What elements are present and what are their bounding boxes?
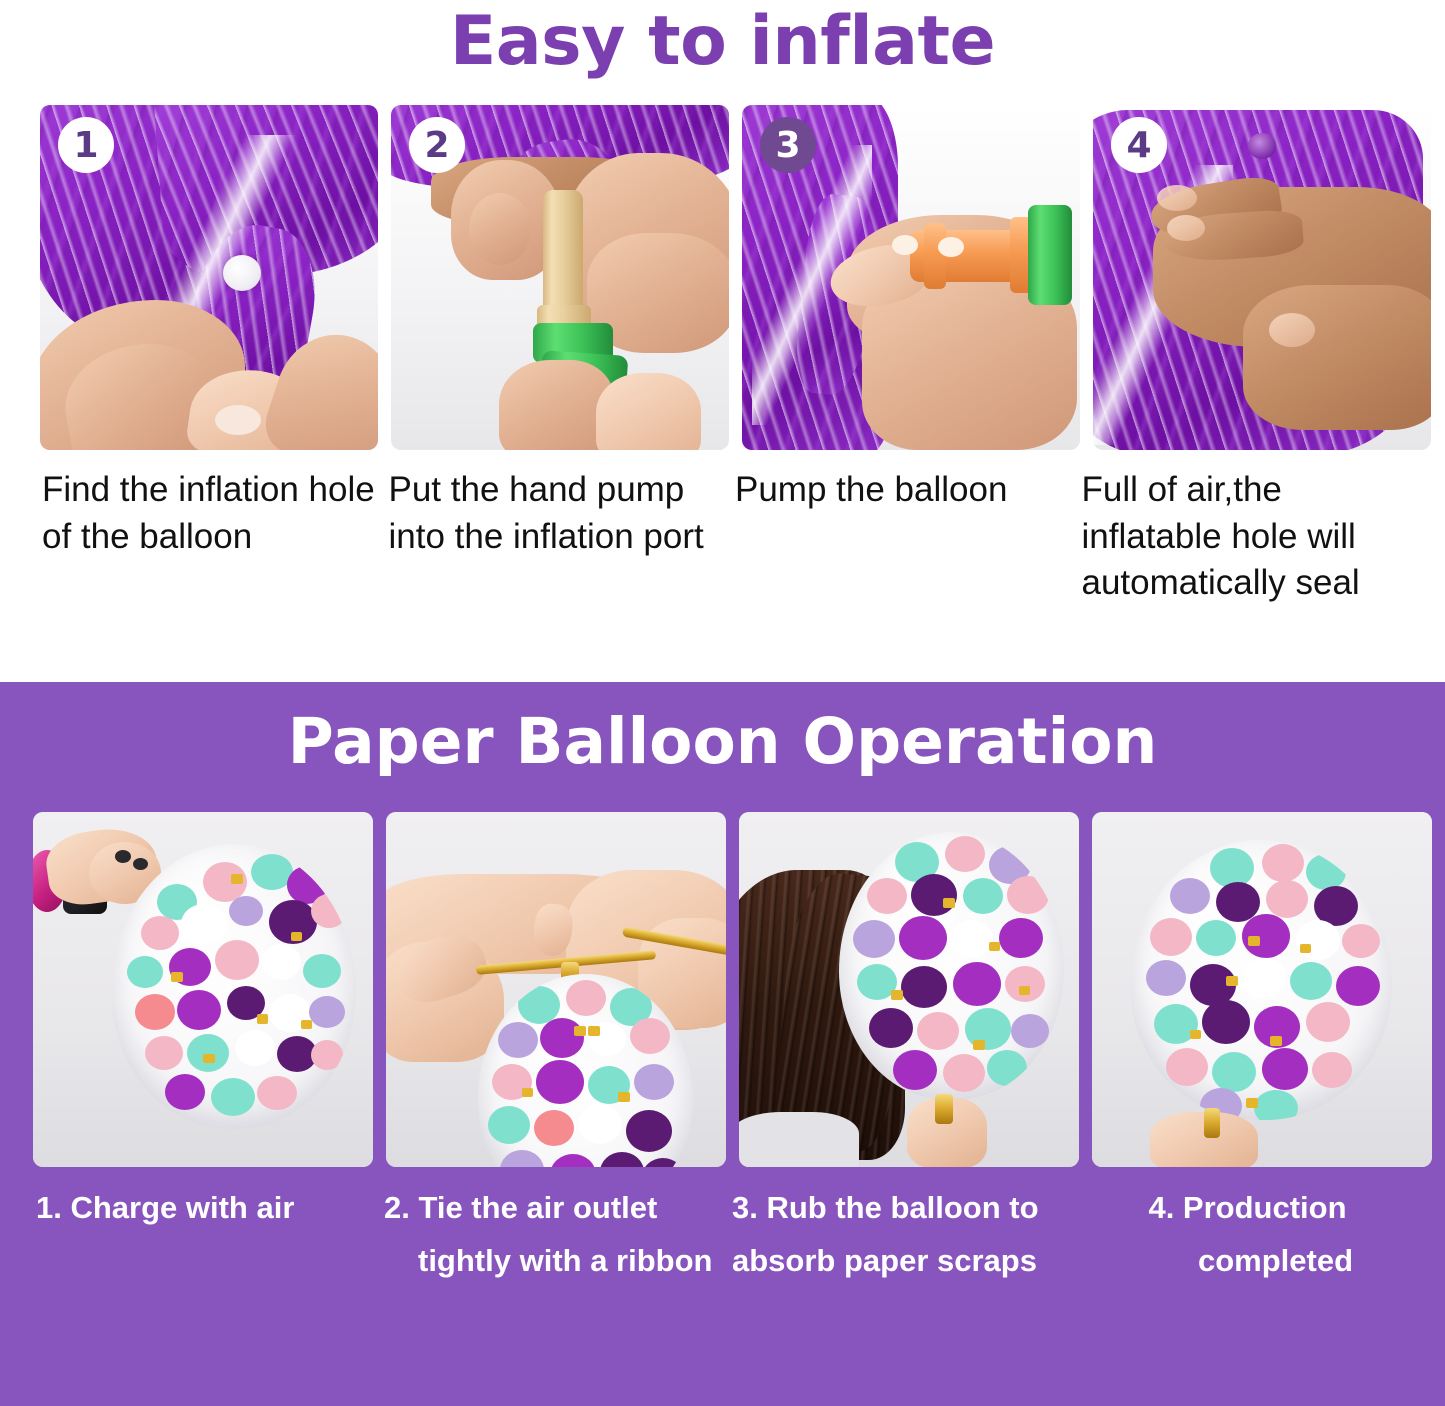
photo-b3-artwork <box>739 812 1079 1167</box>
operation-caption-1-line1: 1. Charge with air <box>36 1190 294 1225</box>
operation-caption-2-line1: 2. Tie the air outlet <box>384 1190 657 1225</box>
step-badge-2: 2 <box>409 117 465 173</box>
operation-photo-4 <box>1092 812 1432 1167</box>
bottom-section-heading: Paper Balloon Operation <box>0 682 1445 800</box>
operation-caption-4-line1: 4. Production <box>1148 1190 1346 1225</box>
step-caption-2: Put the hand pump into the inflation por… <box>389 467 723 607</box>
photo-b4-artwork <box>1092 812 1432 1167</box>
step-caption-1: Find the inflation hole of the balloon <box>42 467 376 607</box>
photo-b1-artwork <box>33 812 373 1167</box>
operation-caption-1: 1. Charge with air <box>36 1181 371 1288</box>
operation-photo-2 <box>386 812 726 1167</box>
easy-to-inflate-section: Easy to inflate 1 <box>0 0 1445 682</box>
step-photo-3: 3 <box>742 105 1080 450</box>
operation-caption-4-line2: completed <box>1080 1234 1415 1287</box>
top-section-heading: Easy to inflate <box>0 0 1445 100</box>
top-caption-row: Find the inflation hole of the balloon P… <box>0 445 1445 607</box>
step-badge-1: 1 <box>58 117 114 173</box>
operation-photo-1 <box>33 812 373 1167</box>
operation-caption-3: 3. Rub the balloon to absorb paper scrap… <box>732 1181 1067 1288</box>
step-photo-4: 4 <box>1093 105 1431 450</box>
bottom-caption-row: 1. Charge with air 2. Tie the air outlet… <box>0 1155 1445 1288</box>
operation-caption-4: 4. Production completed <box>1080 1181 1415 1288</box>
photo-b2-artwork <box>386 812 726 1167</box>
operation-caption-3-line2: absorb paper scraps <box>732 1234 1067 1287</box>
operation-caption-2-line2: tightly with a ribbon <box>384 1234 719 1287</box>
operation-caption-2: 2. Tie the air outlet tightly with a rib… <box>384 1181 719 1288</box>
step-caption-4: Full of air,the inflatable hole will aut… <box>1082 467 1416 607</box>
step-badge-4: 4 <box>1111 117 1167 173</box>
operation-photo-3 <box>739 812 1079 1167</box>
step-photo-2: 2 <box>391 105 729 450</box>
step-caption-3: Pump the balloon <box>735 467 1069 607</box>
operation-caption-3-line1: 3. Rub the balloon to <box>732 1190 1039 1225</box>
product-infographic: Easy to inflate 1 <box>0 0 1445 1406</box>
step-badge-3: 3 <box>760 117 816 173</box>
top-photo-row: 1 <box>0 100 1445 445</box>
bottom-photo-row <box>0 800 1445 1155</box>
paper-balloon-operation-section: Paper Balloon Operation <box>0 682 1445 1406</box>
step-photo-1: 1 <box>40 105 378 450</box>
